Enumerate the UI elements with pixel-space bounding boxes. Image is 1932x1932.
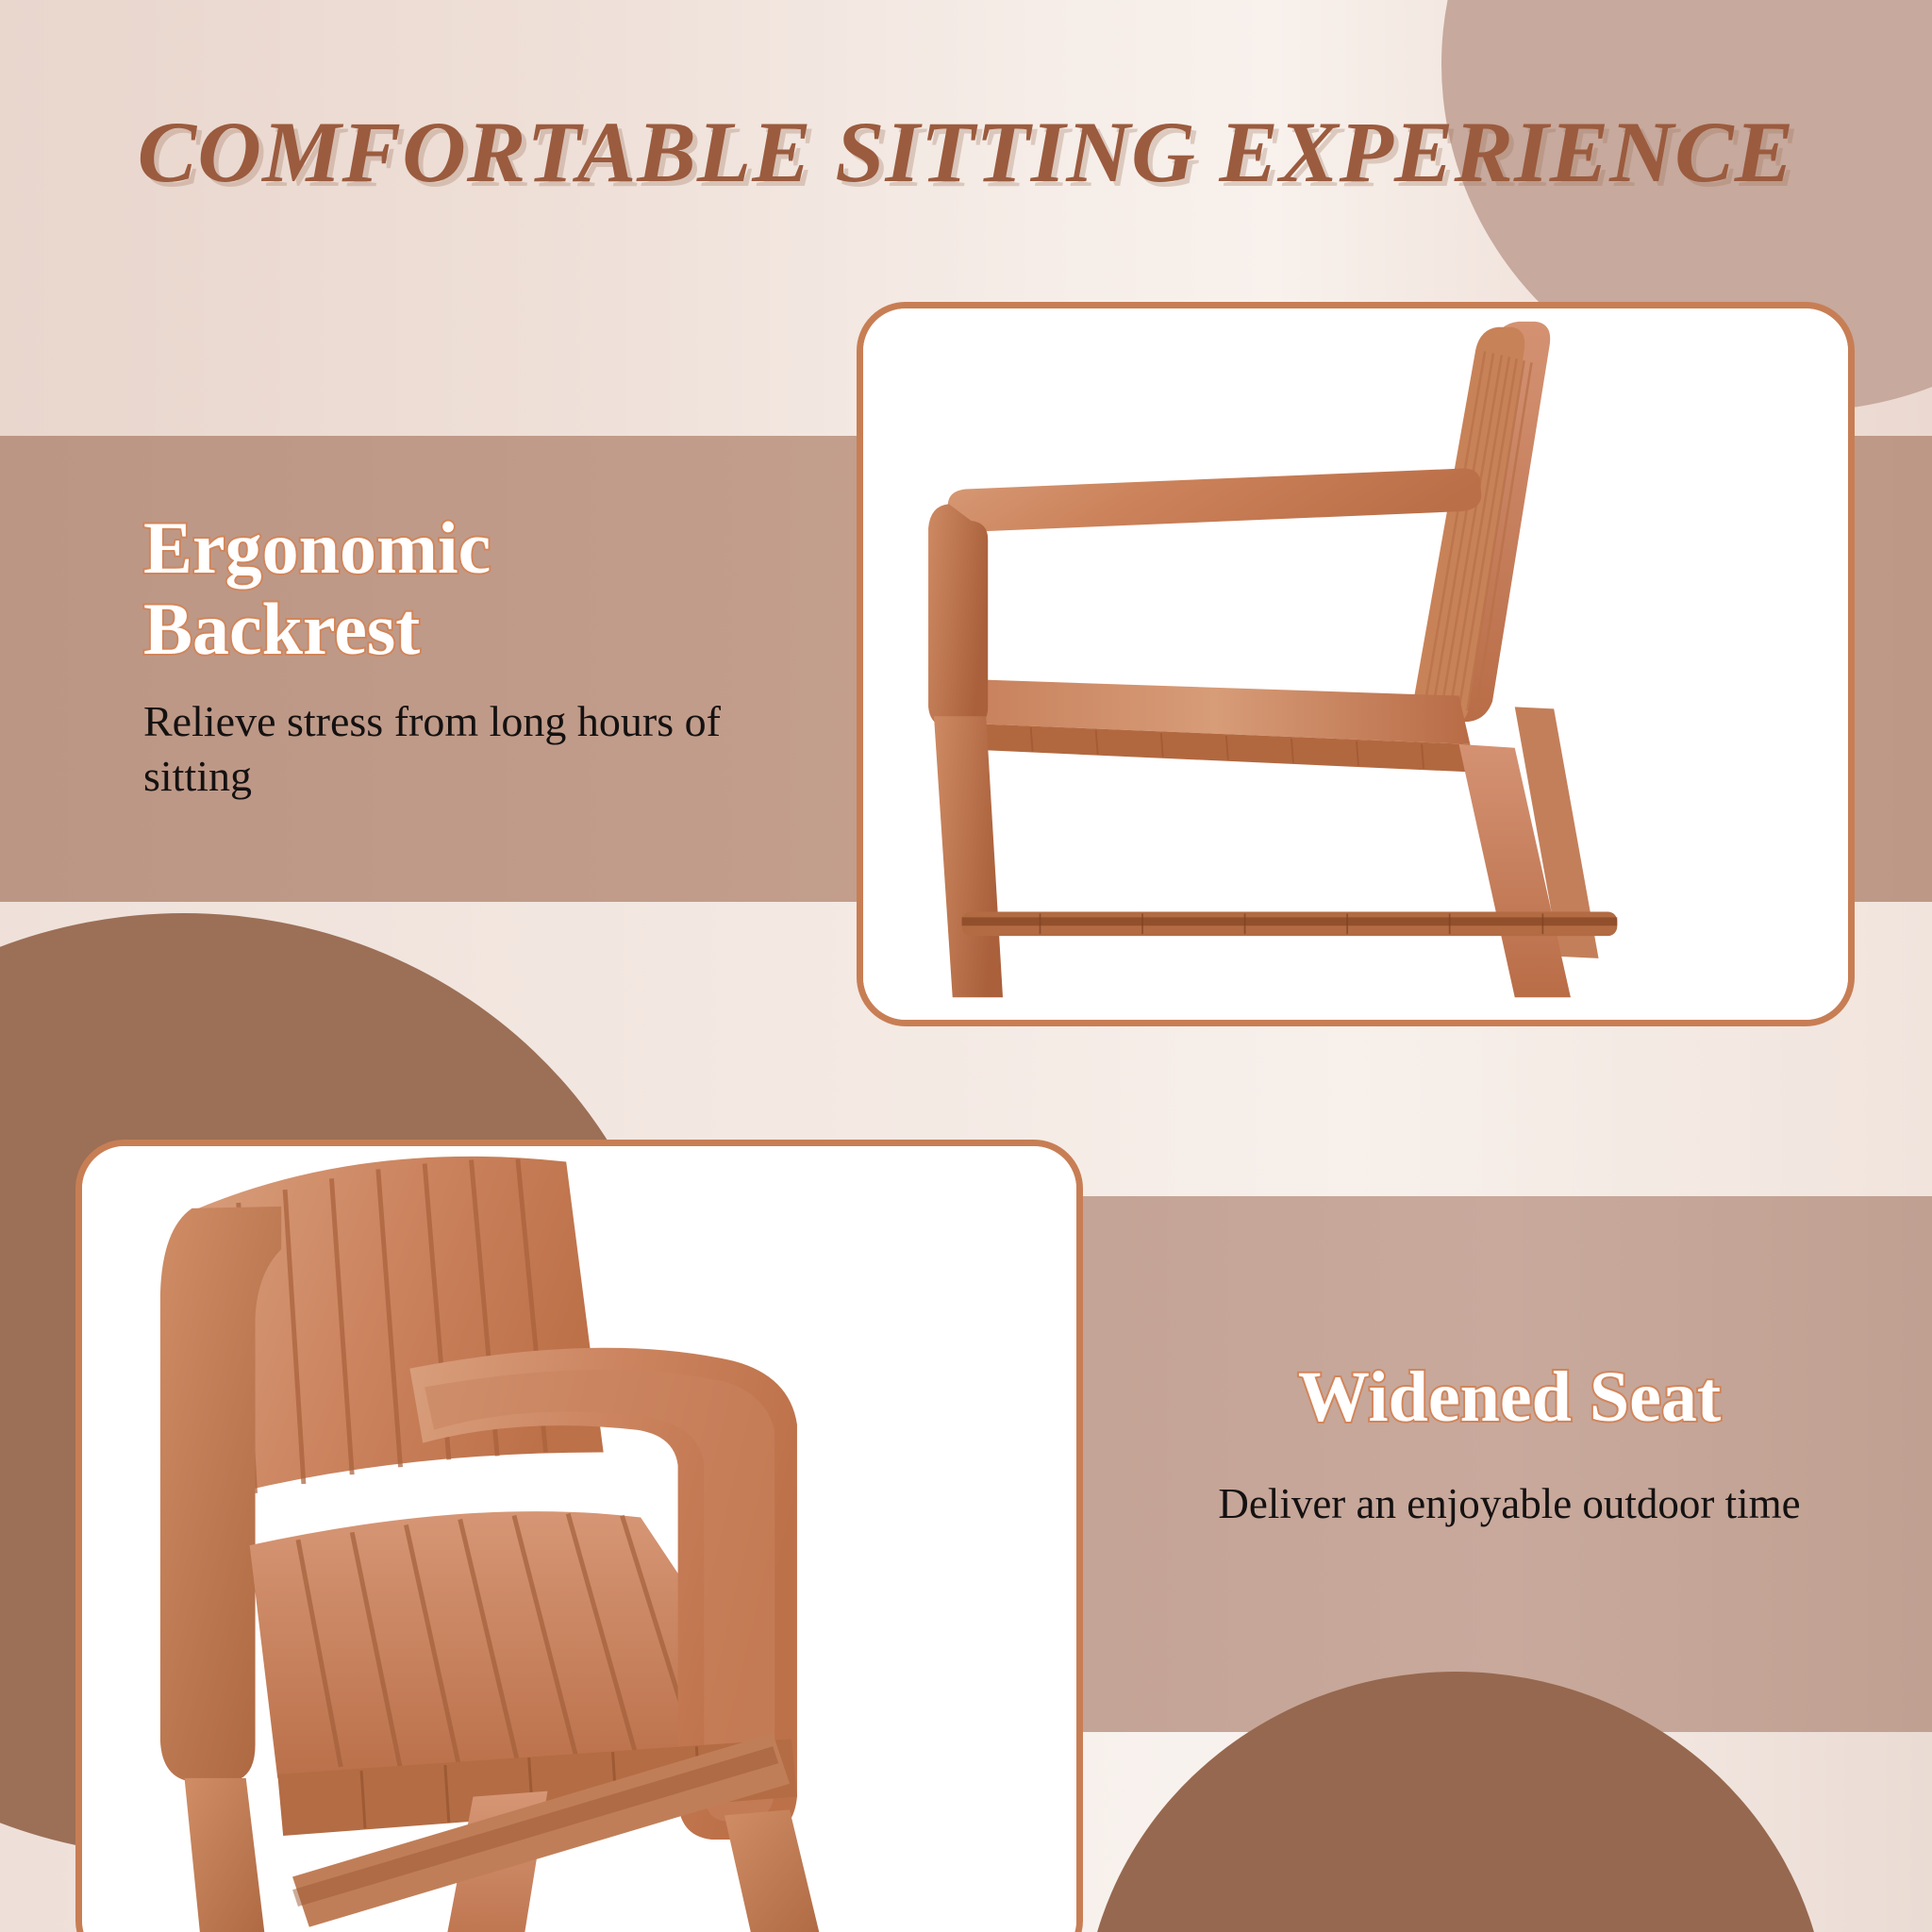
- feature-subtext-ergonomic-backrest: Relieve stress from long hours of sittin…: [143, 694, 747, 806]
- chair-seat-view-illustration: [82, 1146, 1076, 1932]
- chair-side-view-illustration: [863, 308, 1848, 1020]
- feature-block-widened-seat: Widened Seat Deliver an enjoyable outdoo…: [1179, 1358, 1840, 1532]
- image-card-chair-seat-view: [75, 1140, 1083, 1932]
- feature-heading-widened-seat: Widened Seat: [1179, 1358, 1840, 1438]
- feature-subtext-widened-seat: Deliver an enjoyable outdoor time: [1179, 1475, 1840, 1533]
- feature-heading-ergonomic-backrest: Ergonomic Backrest: [143, 508, 747, 670]
- feature-block-ergonomic-backrest: Ergonomic Backrest Relieve stress from l…: [143, 508, 747, 805]
- lower-stretcher: [962, 911, 1618, 936]
- infographic-canvas: COMFORTABLE SITTING EXPERIENCE: [0, 0, 1932, 1932]
- image-card-chair-side-view: [857, 302, 1855, 1026]
- page-title: COMFORTABLE SITTING EXPERIENCE: [0, 102, 1932, 202]
